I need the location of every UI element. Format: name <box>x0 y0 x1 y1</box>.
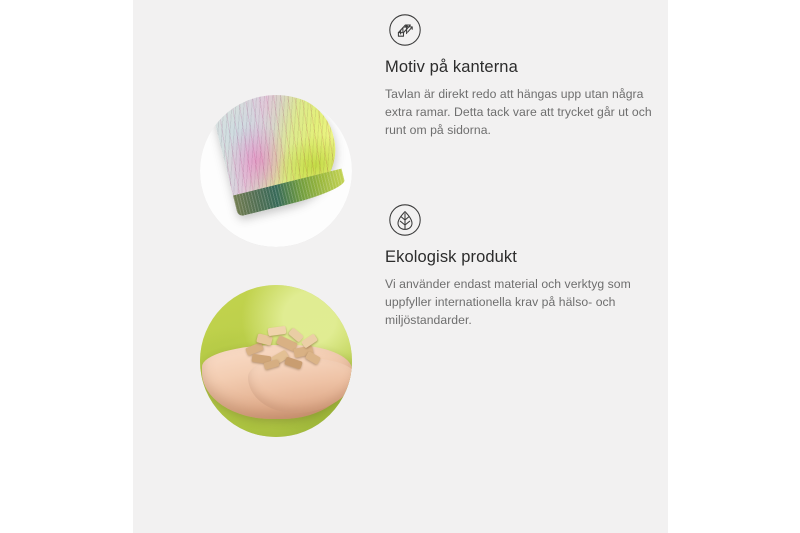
content-panel: Motiv på kanterna Tavlan är direkt redo … <box>133 0 668 533</box>
feature-title: Ekologisk produkt <box>385 248 667 268</box>
feature-body: Vi använder endast material och verktyg … <box>385 275 667 329</box>
wood-chips-cluster <box>244 327 322 373</box>
feature-block-eco: Ekologisk produkt Vi använder endast mat… <box>133 190 668 456</box>
product-feature-panel: Motiv på kanterna Tavlan är direkt redo … <box>0 0 800 533</box>
feature-text-eco: Ekologisk produkt Vi använder endast mat… <box>385 248 667 329</box>
feature-text-edges: Motiv på kanterna Tavlan är direkt redo … <box>385 58 657 139</box>
wood-chips-in-hands-photo <box>200 285 352 437</box>
feature-body: Tavlan är direkt redo att hängas upp uta… <box>385 85 657 139</box>
canvas-edge-print-icon <box>385 10 425 50</box>
feature-title: Motiv på kanterna <box>385 58 657 78</box>
leaf-icon <box>385 200 425 240</box>
